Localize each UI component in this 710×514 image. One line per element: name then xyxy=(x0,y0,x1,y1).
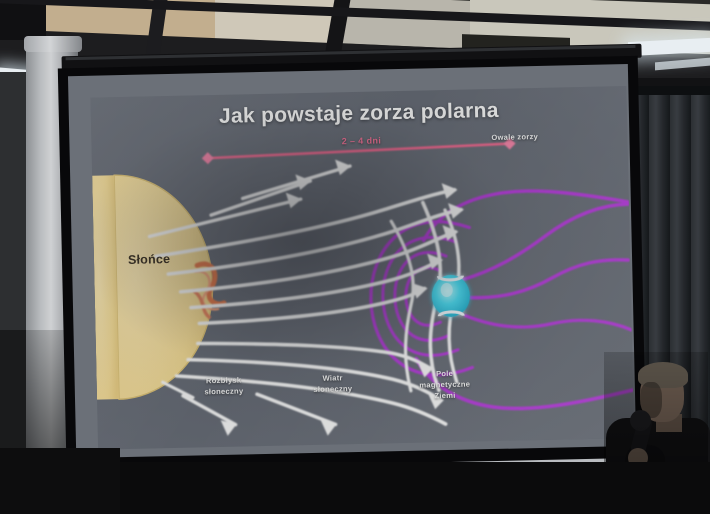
sun-label: Słońce xyxy=(128,252,170,267)
sun-shape xyxy=(92,173,215,400)
ceiling-corner-dark xyxy=(0,0,46,40)
lecture-room-photo: Jak powstaje zorza polarna 2 – 4 dni Owa… xyxy=(0,0,710,514)
floor-left-dark xyxy=(0,448,120,514)
projector-screen: Jak powstaje zorza polarna 2 – 4 dni Owa… xyxy=(57,30,653,487)
presentation-slide: Jak powstaje zorza polarna 2 – 4 dni Owa… xyxy=(90,86,634,450)
caption-line: Ziemi xyxy=(397,389,493,402)
aurora-ovals-label: Owale zorzy xyxy=(491,132,538,142)
caption-earth-magnetic-field: Pole magnetyczne Ziemi xyxy=(396,367,493,402)
screen-frame: Jak powstaje zorza polarna 2 – 4 dni Owa… xyxy=(58,56,647,473)
earth xyxy=(431,275,470,318)
duration-label: 2 – 4 dni xyxy=(342,135,382,146)
caption-line: słoneczny xyxy=(181,385,267,398)
caption-solar-wind: Wiatr słoneczny xyxy=(293,372,373,396)
caption-line: słoneczny xyxy=(293,383,373,396)
caption-solar-flare: Rozbłysk słoneczny xyxy=(181,374,267,398)
screen-canvas: Jak powstaje zorza polarna 2 – 4 dni Owa… xyxy=(68,64,636,458)
